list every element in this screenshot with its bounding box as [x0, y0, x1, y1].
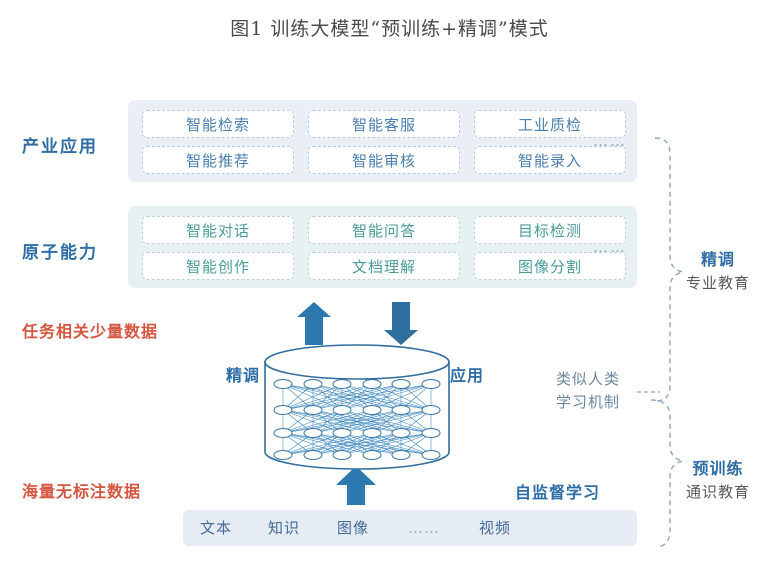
panel-atomic-capabilities: 智能对话 智能问答 目标检测 智能创作 文档理解 图像分割	[128, 206, 637, 288]
figure-title: 图1 训练大模型“预训练+精调”模式	[0, 14, 779, 41]
brace-title-pretrain: 预训练	[692, 455, 743, 479]
industry-ellipsis: ……	[593, 132, 627, 150]
cell-atomic-4[interactable]: 文档理解	[308, 252, 460, 280]
cell-atomic-1[interactable]: 智能问答	[308, 216, 460, 244]
data-source-1[interactable]: 知识	[268, 508, 300, 548]
brace-subtitle-finetune: 专业教育	[686, 272, 750, 293]
cell-industry-3[interactable]: 智能推荐	[142, 146, 294, 174]
panel-industry-applications: 智能检索 智能客服 工业质检 智能推荐 智能审核 智能录入	[128, 100, 637, 182]
brace-title-finetune: 精调	[701, 246, 735, 270]
diagram-canvas: 图1 训练大模型“预训练+精调”模式 产业应用 智能检索 智能客服 工业质检 智…	[0, 0, 779, 562]
data-source-4[interactable]: 视频	[479, 508, 511, 548]
data-source-ellipsis: ……	[408, 508, 440, 548]
label-cylinder-finetune: 精调	[226, 362, 260, 386]
label-human-like-mechanism: 类似人类 学习机制	[556, 368, 620, 414]
model-cylinder	[265, 345, 449, 469]
cell-industry-5[interactable]: 智能录入	[474, 146, 626, 174]
cell-atomic-5[interactable]: 图像分割	[474, 252, 626, 280]
arrow-down-icon	[384, 302, 418, 345]
arrow-up-bottom-icon	[336, 466, 376, 505]
atomic-ellipsis: ……	[593, 238, 627, 256]
cell-industry-4[interactable]: 智能审核	[308, 146, 460, 174]
data-source-0[interactable]: 文本	[200, 508, 232, 548]
cell-atomic-0[interactable]: 智能对话	[142, 216, 294, 244]
label-human-like-line-2: 学习机制	[556, 391, 620, 414]
arrow-up-icon	[297, 302, 331, 345]
row-label-atomic: 原子能力	[22, 238, 98, 263]
label-task-related-data: 任务相关少量数据	[22, 318, 158, 342]
label-human-like-line-1: 类似人类	[556, 368, 620, 391]
row-label-industry: 产业应用	[22, 132, 98, 157]
data-source-2[interactable]: 图像	[337, 508, 369, 548]
cell-industry-1[interactable]: 智能客服	[308, 110, 460, 138]
brace-subtitle-pretrain: 通识教育	[686, 481, 750, 502]
brace-pretrain	[651, 400, 683, 547]
label-self-supervised-learning: 自监督学习	[515, 479, 600, 503]
label-mass-unlabeled-data: 海量无标注数据	[22, 478, 141, 502]
label-cylinder-apply: 应用	[450, 362, 484, 386]
cell-industry-0[interactable]: 智能检索	[142, 110, 294, 138]
neural-network-graphic	[274, 380, 440, 460]
brace-finetune	[655, 138, 683, 401]
cell-atomic-3[interactable]: 智能创作	[142, 252, 294, 280]
